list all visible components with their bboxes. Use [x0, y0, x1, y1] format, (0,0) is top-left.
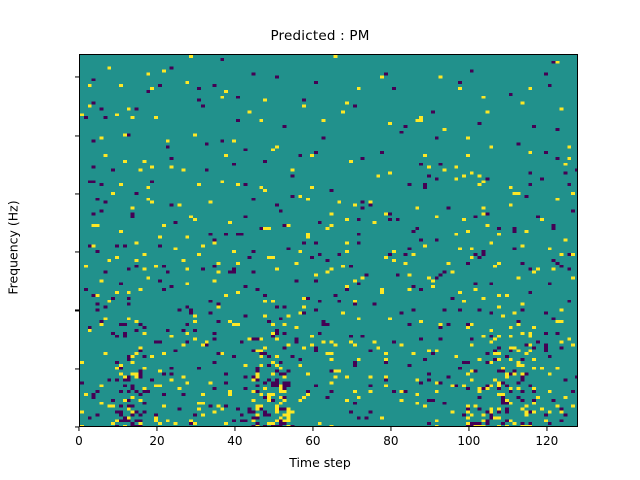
x-tick-mark — [546, 427, 547, 431]
x-tick-mark — [468, 427, 469, 431]
x-axis-label: Time step — [0, 455, 640, 470]
matplotlib-figure: Predicted : PM Frequency (Hz) 0200004000… — [0, 0, 640, 480]
x-tick-mark — [78, 427, 79, 431]
x-tick-label: 100 — [457, 434, 480, 448]
x-tick-label: 60 — [305, 434, 320, 448]
x-tick-mark — [390, 427, 391, 431]
heatmap-axes[interactable] — [79, 54, 578, 427]
x-tick-label: 40 — [227, 434, 242, 448]
x-tick-mark — [234, 427, 235, 431]
page-title: Predicted : PM — [0, 28, 640, 44]
heatmap-image — [80, 55, 578, 427]
y-axis-label: Frequency (Hz) — [6, 178, 21, 318]
x-tick-label: 120 — [535, 434, 558, 448]
x-tick-mark — [312, 427, 313, 431]
y-axis: Frequency (Hz) 0200004000060000800001000… — [0, 0, 79, 480]
x-tick-mark — [156, 427, 157, 431]
x-tick-label: 0 — [75, 434, 83, 448]
x-tick-label: 20 — [149, 434, 164, 448]
x-tick-label: 80 — [383, 434, 398, 448]
